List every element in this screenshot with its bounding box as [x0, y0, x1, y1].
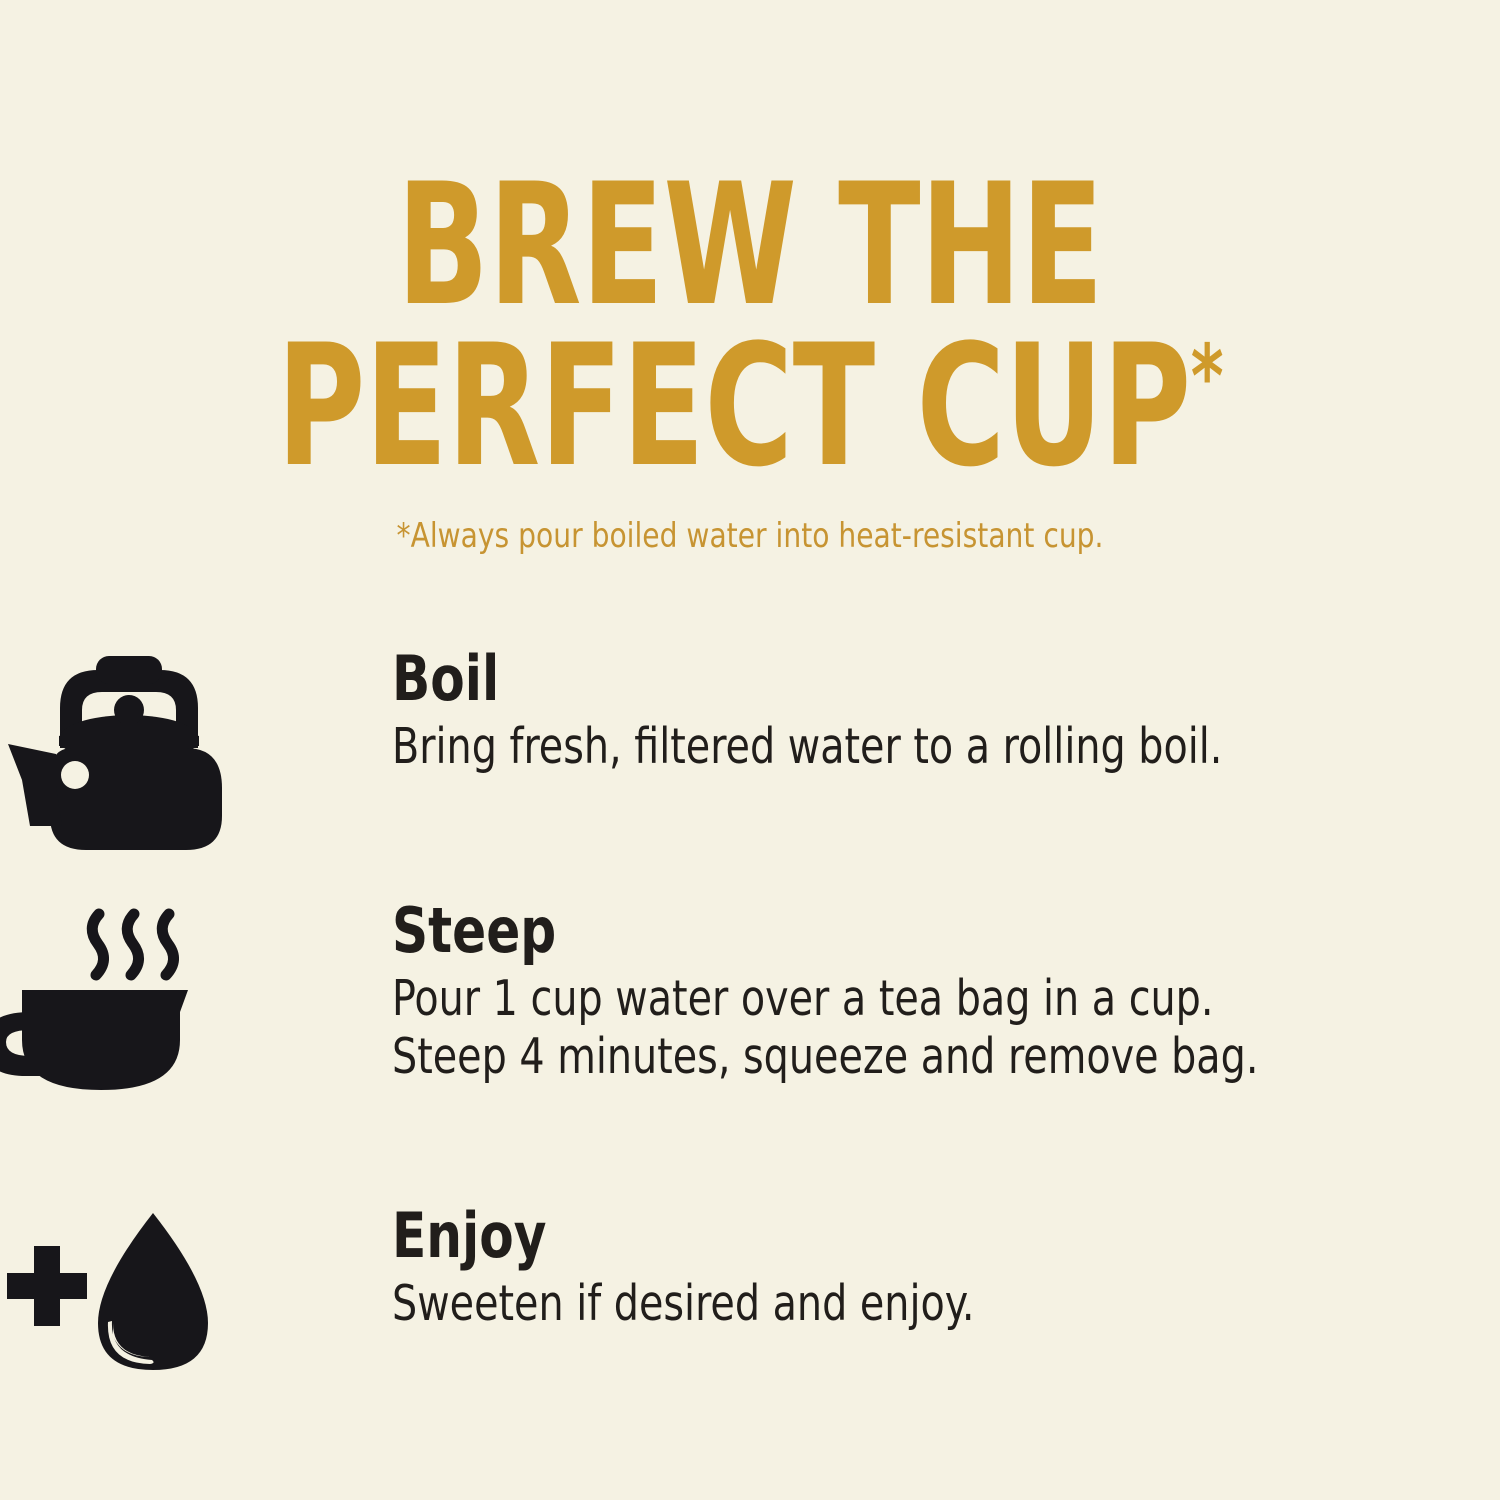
steaming-cup-icon	[0, 900, 380, 1130]
page-title: BREW THE PERFECT CUP*	[0, 168, 1500, 483]
step-boil-body-line-1: Bring fresh, filtered water to a rolling…	[392, 718, 1353, 776]
brew-instructions-card: BREW THE PERFECT CUP* *Always pour boile…	[0, 0, 1500, 1500]
plus-sign	[7, 1246, 87, 1326]
step-steep-body: Pour 1 cup water over a tea bag in a cup…	[392, 970, 1353, 1086]
step-enjoy-title: Enjoy	[392, 1205, 1353, 1267]
headline-line-2-text: PERFECT CUP	[277, 308, 1191, 504]
step-steep-text: Steep Pour 1 cup water over a tea bag in…	[392, 900, 1460, 1086]
step-boil-text: Boil Bring fresh, filtered water to a ro…	[392, 648, 1460, 776]
step-steep-body-line-1: Pour 1 cup water over a tea bag in a cup…	[392, 970, 1353, 1028]
step-enjoy-body: Sweeten if desired and enjoy.	[392, 1275, 1353, 1333]
headline-asterisk: *	[1191, 326, 1223, 428]
plus-droplet-icon	[0, 1205, 380, 1435]
footnote-disclaimer: *Always pour boiled water into heat-resi…	[60, 516, 1440, 556]
step-boil-body: Bring fresh, filtered water to a rolling…	[392, 718, 1353, 776]
headline-line-1: BREW THE	[150, 168, 1350, 323]
step-steep-title: Steep	[392, 900, 1353, 962]
droplet	[98, 1213, 208, 1370]
step-enjoy-body-line-1: Sweeten if desired and enjoy.	[392, 1275, 1353, 1333]
step-boil-title: Boil	[392, 648, 1353, 710]
step-enjoy-text: Enjoy Sweeten if desired and enjoy.	[392, 1205, 1460, 1333]
headline-line-2: PERFECT CUP*	[150, 329, 1350, 484]
kettle-icon	[0, 648, 380, 878]
step-steep-body-line-2: Steep 4 minutes, squeeze and remove bag.	[392, 1028, 1353, 1086]
